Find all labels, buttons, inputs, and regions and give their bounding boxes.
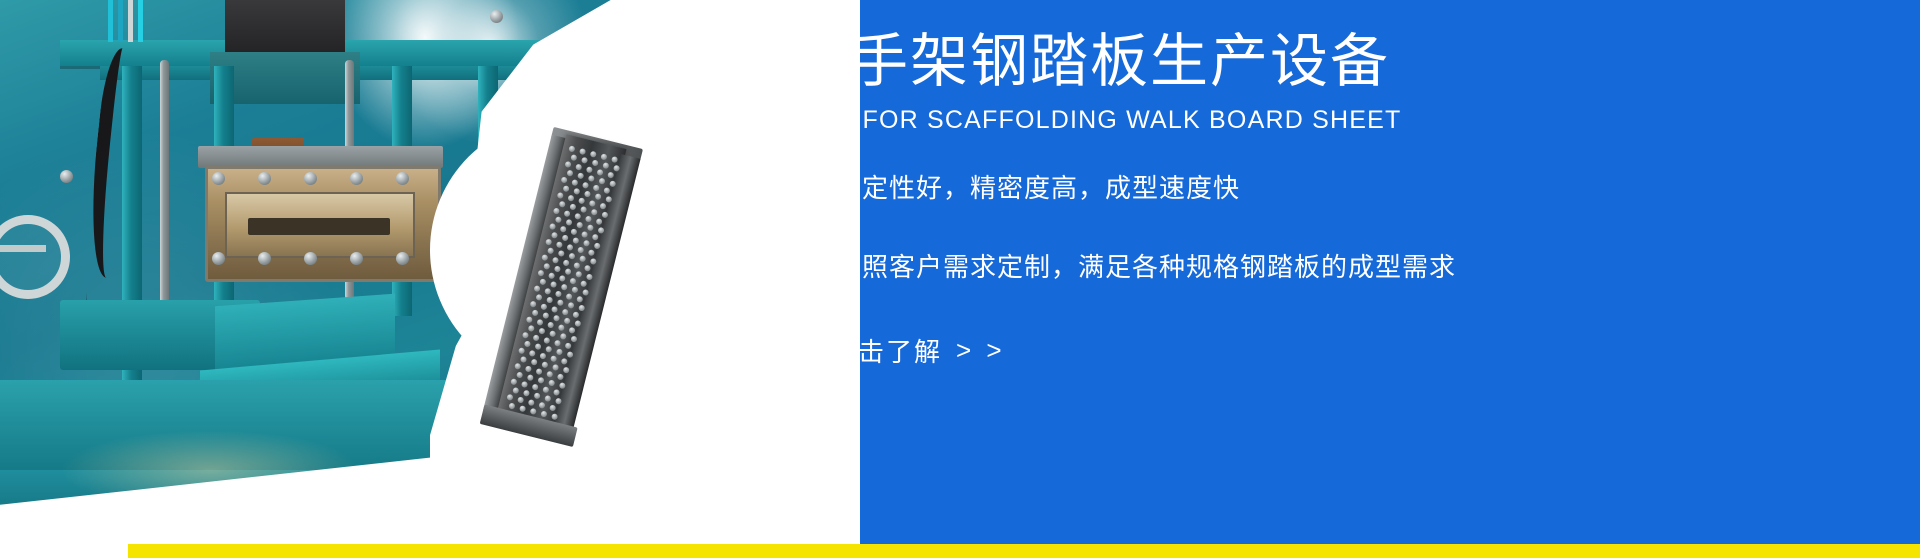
plank-dot: [553, 315, 560, 322]
die-top-plate: [198, 146, 443, 168]
plank-dot: [564, 317, 571, 324]
plank-dot: [553, 389, 560, 396]
forming-die-slot: [248, 218, 390, 235]
plank-dot: [592, 234, 599, 241]
plank-dot: [570, 154, 577, 161]
plank-dot: [557, 192, 564, 199]
bolt: [304, 252, 317, 265]
plank-dot: [537, 269, 544, 276]
plank-dot: [518, 347, 525, 354]
plank-dot: [516, 371, 523, 378]
plank-dot: [551, 232, 558, 239]
feature-item-label: 稳定性好，精密度高，成型速度快: [835, 168, 1240, 205]
banner-title: 脚手架钢踏板生产设备: [790, 28, 1390, 96]
plank-dot: [568, 145, 575, 152]
plank-dot: [540, 410, 547, 417]
plank-dot: [564, 161, 571, 168]
plank-dot: [520, 356, 527, 363]
plank-dot: [573, 188, 580, 195]
plank-dot: [560, 333, 567, 340]
cable-strand: [128, 0, 133, 42]
plank-dot: [510, 378, 517, 385]
plank-dot: [611, 156, 618, 163]
plank-dot: [533, 285, 540, 292]
plank-dot: [545, 238, 552, 245]
plank-dot: [541, 361, 548, 368]
plank-dot: [596, 169, 603, 176]
plank-dot: [564, 268, 571, 275]
plank-dot: [598, 178, 605, 185]
plank-dot: [559, 275, 566, 282]
bolt: [258, 252, 271, 265]
plank-dot: [519, 405, 526, 412]
chevron-right-icon: > >: [956, 335, 1006, 366]
plank-dot: [603, 187, 610, 194]
plank-dot: [580, 206, 587, 213]
plank-dot: [599, 203, 606, 210]
plank-dot: [534, 343, 541, 350]
plank-dot: [562, 309, 569, 316]
plank-dot: [554, 265, 561, 272]
plank-dot: [577, 246, 584, 253]
plank-dot: [579, 255, 586, 262]
plank-dot: [555, 290, 562, 297]
plank-dot: [535, 368, 542, 375]
plank-dot: [524, 340, 531, 347]
bolt: [258, 172, 271, 185]
bolt: [396, 172, 409, 185]
bolt: [350, 252, 363, 265]
plank-dot: [543, 263, 550, 270]
plank-dot: [593, 184, 600, 191]
plank-dot: [566, 170, 573, 177]
plank-dot: [578, 197, 585, 204]
plank-dot: [572, 311, 579, 318]
plank-dot: [528, 325, 535, 332]
plank-dot: [557, 299, 564, 306]
plank-dot: [530, 301, 537, 308]
banner-subtitle: LINE FOR SCAFFOLDING WALK BOARD SHEET: [794, 106, 1401, 135]
plank-dot: [586, 166, 593, 173]
plank-dot: [572, 237, 579, 244]
plank-dot: [538, 327, 545, 334]
plank-dot: [550, 281, 557, 288]
plank-dot: [549, 404, 556, 411]
plank-dot: [541, 254, 548, 261]
plank-dot: [570, 228, 577, 235]
plank-dot: [539, 352, 546, 359]
bolt: [304, 172, 317, 185]
plank-dot: [546, 371, 553, 378]
plank-dot: [543, 337, 550, 344]
plank-dot: [565, 342, 572, 349]
plank-dot: [607, 171, 614, 178]
plank-dot: [575, 271, 582, 278]
square-outline-icon: [794, 255, 815, 276]
plank-dot: [560, 226, 567, 233]
plank-dot: [563, 259, 570, 266]
plank-dot: [581, 231, 588, 238]
plank-dot: [562, 234, 569, 241]
plank-dot: [571, 286, 578, 293]
plank-dot: [591, 209, 598, 216]
plank-dot: [555, 216, 562, 223]
plank-dot: [517, 396, 524, 403]
plank-dot: [512, 387, 519, 394]
plank-dot: [567, 302, 574, 309]
plank-dot: [562, 185, 569, 192]
plank-dot: [585, 215, 592, 222]
plank-dot: [589, 200, 596, 207]
plank-dot: [514, 363, 521, 370]
plank-dot: [588, 249, 595, 256]
plank-dot: [584, 190, 591, 197]
plank-dot: [551, 306, 558, 313]
plank-dot: [561, 176, 568, 183]
plank-dot: [559, 201, 566, 208]
plank-dot: [545, 346, 552, 353]
plank-dot: [537, 377, 544, 384]
plank-dot: [525, 365, 532, 372]
bolt: [60, 170, 73, 183]
plank-dot: [556, 241, 563, 248]
plank-dot: [584, 265, 591, 272]
plank-dot: [550, 355, 557, 362]
plank-dot: [536, 319, 543, 326]
plank-dot: [521, 381, 528, 388]
plank-dot: [587, 224, 594, 231]
plank-dot: [542, 312, 549, 319]
plank-dot: [535, 294, 542, 301]
plank-dot: [540, 303, 547, 310]
plank-dot: [522, 332, 529, 339]
plank-dot: [595, 193, 602, 200]
plank-dot: [568, 253, 575, 260]
plank-dot: [534, 392, 541, 399]
plank-dot: [561, 284, 568, 291]
plank-dot: [576, 296, 583, 303]
plank-dot: [531, 359, 538, 366]
feature-item: 稳定性好，精密度高，成型速度快: [794, 168, 1894, 205]
plank-dot: [588, 175, 595, 182]
plank-dot: [602, 162, 609, 169]
cable-strand: [138, 0, 143, 42]
learn-more-label: 点击了解: [830, 332, 942, 369]
plank-dot: [595, 218, 602, 225]
bolt: [490, 10, 503, 23]
plank-dot: [567, 195, 574, 202]
plank-dot: [548, 272, 555, 279]
bolt: [350, 172, 363, 185]
plank-dot: [558, 250, 565, 257]
plank-dot: [539, 278, 546, 285]
plank-dot: [553, 207, 560, 214]
plank-dot: [528, 399, 535, 406]
plank-dot: [542, 386, 549, 393]
plank-dot: [544, 395, 551, 402]
plank-dot: [571, 179, 578, 186]
plank-dot: [600, 153, 607, 160]
plank-dot: [565, 219, 572, 226]
plank-dot: [527, 374, 534, 381]
plank-dot: [576, 221, 583, 228]
plank-dot: [566, 244, 573, 251]
bolt: [396, 252, 409, 265]
plank-dot: [532, 383, 539, 390]
feature-list: 稳定性好，精密度高，成型速度快 按照客户需求定制，满足各种规格钢踏板的成型需求: [794, 168, 1894, 326]
plank-dot: [554, 340, 561, 347]
plank-dot: [526, 316, 533, 323]
plank-dot: [544, 288, 551, 295]
learn-more-link[interactable]: 点击了解 > >: [830, 332, 1006, 369]
cable-strand: [108, 0, 113, 42]
plank-dot: [592, 159, 599, 166]
plank-dot: [552, 257, 559, 264]
plank-dot: [557, 373, 564, 380]
plank-dot: [563, 210, 570, 217]
plank-dot: [569, 203, 576, 210]
handwheel-spoke: [0, 245, 46, 252]
plank-dot: [546, 296, 553, 303]
plank-dot: [523, 390, 530, 397]
plank-dot: [582, 182, 589, 189]
plank-dot: [556, 348, 563, 355]
plank-dot: [577, 172, 584, 179]
plank-dot: [565, 293, 572, 300]
bottom-accent-strip: [0, 544, 1920, 558]
plank-dot: [547, 247, 554, 254]
feature-item: 按照客户需求定制，满足各种规格钢踏板的成型需求: [794, 247, 1894, 284]
bolt: [212, 172, 225, 185]
plank-dot: [581, 157, 588, 164]
plank-dot: [583, 240, 590, 247]
plank-dot: [508, 402, 515, 409]
plank-dot: [549, 223, 556, 230]
accent-strip-left-gap: [0, 544, 128, 558]
plank-dot: [590, 151, 597, 158]
plank-dot: [580, 280, 587, 287]
feature-item-label: 按照客户需求定制，满足各种规格钢踏板的成型需求: [835, 247, 1456, 284]
cable-strand: [118, 0, 123, 42]
plank-dot: [533, 334, 540, 341]
banner-content: 脚手架钢踏板生产设备 LINE FOR SCAFFOLDING WALK BOA…: [790, 0, 1920, 558]
plank-dot: [538, 402, 545, 409]
plank-dot: [568, 327, 575, 334]
plank-dot: [574, 213, 581, 220]
plank-dot: [575, 163, 582, 170]
plank-dot: [548, 379, 555, 386]
promo-banner: 脚手架钢踏板生产设备 LINE FOR SCAFFOLDING WALK BOA…: [0, 0, 1920, 558]
plank-dot: [579, 148, 586, 155]
square-outline-icon: [794, 176, 815, 197]
plank-dot: [573, 262, 580, 269]
plank-dot: [552, 364, 559, 371]
plank-dot: [561, 358, 568, 365]
plank-dot: [529, 350, 536, 357]
plank-dot: [530, 408, 537, 415]
plank-dot: [558, 324, 565, 331]
plank-dot: [506, 394, 513, 401]
plank-dot: [532, 309, 539, 316]
plank-dot: [549, 330, 556, 337]
plank-dot: [569, 277, 576, 284]
plank-dot: [547, 321, 554, 328]
bolt: [212, 252, 225, 265]
